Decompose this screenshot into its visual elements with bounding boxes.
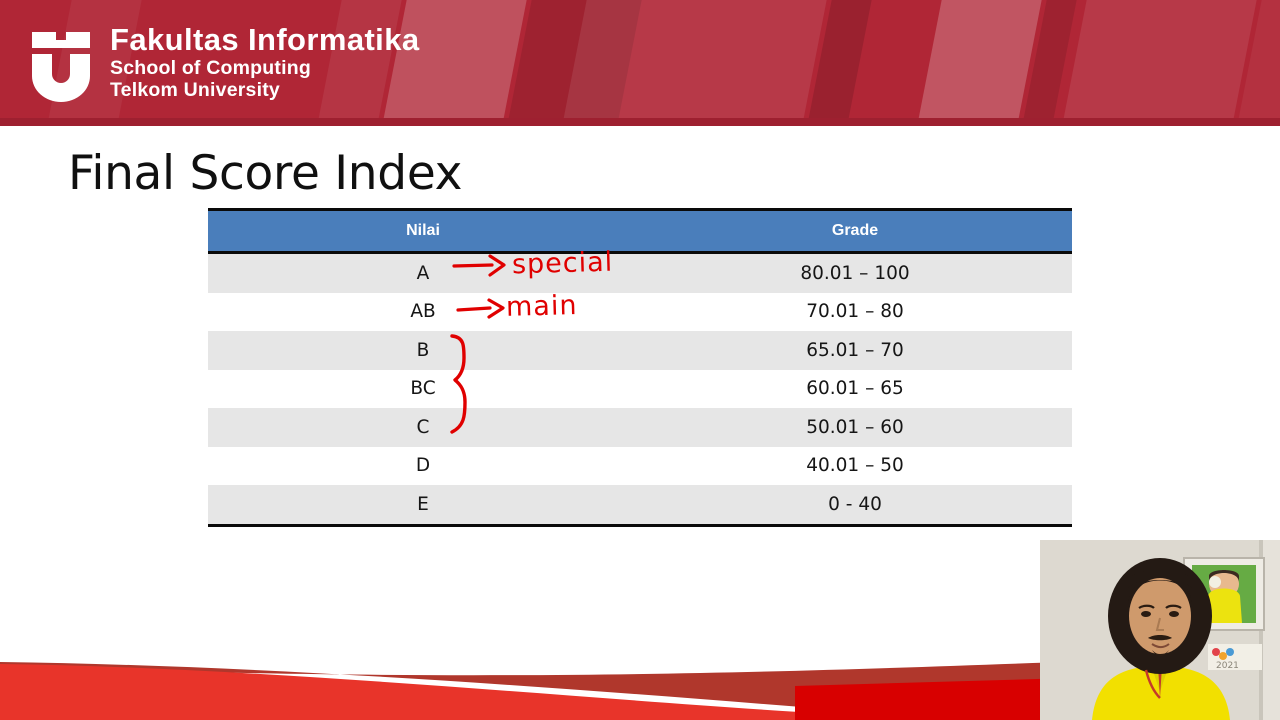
branding-text: Fakultas Informatika School of Computing… [110, 24, 419, 100]
banner-bottom-strip [0, 118, 1280, 126]
column-header-grade: Grade [638, 210, 1072, 253]
banner-stripe [1059, 0, 1260, 126]
banner-stripe [559, 0, 830, 126]
table-header-row: Nilai Grade [208, 210, 1072, 253]
table-row: A80.01 – 100 [208, 253, 1072, 293]
table-row: AB70.01 – 80 [208, 293, 1072, 332]
cell-nilai: BC [208, 370, 638, 409]
banner-stripe [1019, 0, 1080, 126]
presenter-video-feed[interactable]: 2021 [1040, 540, 1280, 720]
cell-grade: 60.01 – 65 [638, 370, 1072, 409]
banner-stripe [914, 0, 1045, 126]
table-row: BC60.01 – 65 [208, 370, 1072, 409]
cell-grade: 0 - 40 [638, 485, 1072, 525]
telkom-u-logo-icon [30, 30, 92, 102]
cell-grade: 40.01 – 50 [638, 447, 1072, 486]
table-row: E0 - 40 [208, 485, 1072, 525]
cell-grade: 65.01 – 70 [638, 331, 1072, 370]
column-header-nilai: Nilai [208, 210, 638, 253]
presentation-slide: Fakultas Informatika School of Computing… [0, 0, 1280, 720]
cell-nilai: E [208, 485, 638, 525]
cell-grade: 70.01 – 80 [638, 293, 1072, 332]
page-title: Final Score Index [68, 146, 462, 201]
banner-stripe [1234, 0, 1280, 126]
table-row: D40.01 – 50 [208, 447, 1072, 486]
banner-stripe [504, 0, 645, 126]
grade-table-body: A80.01 – 100AB70.01 – 80B65.01 – 70BC60.… [208, 253, 1072, 526]
cell-grade: 80.01 – 100 [638, 253, 1072, 293]
cell-nilai: B [208, 331, 638, 370]
cell-nilai: D [208, 447, 638, 486]
table-row: C50.01 – 60 [208, 408, 1072, 447]
branding-faculty: Fakultas Informatika [110, 24, 419, 57]
banner-stripe [804, 0, 875, 126]
cell-nilai: AB [208, 293, 638, 332]
table-row: B65.01 – 70 [208, 331, 1072, 370]
cell-nilai: A [208, 253, 638, 293]
poster-year-text: 2021 [1216, 661, 1239, 671]
cell-grade: 50.01 – 60 [638, 408, 1072, 447]
branding-university: Telkom University [110, 80, 419, 101]
webcam-scene: 2021 [1040, 540, 1280, 720]
header-banner: Fakultas Informatika School of Computing… [0, 0, 1280, 126]
cell-nilai: C [208, 408, 638, 447]
grade-table-container: Nilai Grade A80.01 – 100AB70.01 – 80B65.… [208, 208, 1072, 527]
branding-school: School of Computing [110, 58, 419, 79]
grade-table: Nilai Grade A80.01 – 100AB70.01 – 80B65.… [208, 208, 1072, 527]
